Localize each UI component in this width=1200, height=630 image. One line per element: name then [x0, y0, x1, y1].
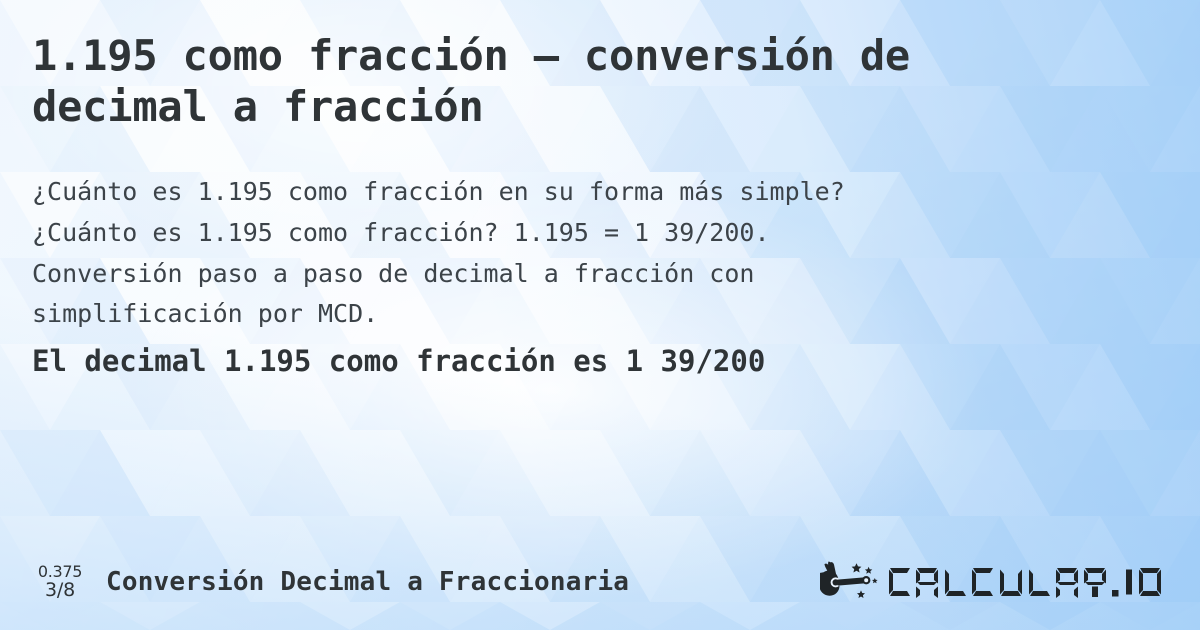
answer-statement: El decimal 1.195 como fracción es 1 39/2… [32, 343, 1112, 381]
summary-text: ¿Cuánto es 1.195 como fracción en su for… [32, 172, 1072, 335]
calculatio-wordmark: CALCULAT.IO [886, 561, 1182, 603]
summary-line: ¿Cuánto es 1.195 como fracción en su for… [32, 172, 1072, 213]
footer-brand-group: 0.375 3/8 Conversión Decimal a Fracciona… [32, 563, 629, 601]
card-footer: 0.375 3/8 Conversión Decimal a Fracciona… [32, 556, 1182, 608]
icon-decimal-value: 0.375 [38, 563, 82, 581]
card-content: 1.195 como fracción – conversión de deci… [32, 0, 1168, 630]
hand-magic-wand-icon [820, 559, 882, 605]
calculator-name: Conversión Decimal a Fraccionaria [106, 567, 629, 597]
page-title: 1.195 como fracción – conversión de deci… [32, 30, 1092, 132]
icon-fraction-value: 3/8 [45, 580, 75, 601]
summary-line: simplificación por MCD. [32, 294, 1072, 335]
summary-line: Conversión paso a paso de decimal a frac… [32, 254, 1072, 295]
open-graph-card: 1.195 como fracción – conversión de deci… [0, 0, 1200, 630]
brand-logo[interactable]: CALCULAT.IO [820, 559, 1182, 605]
decimal-to-fraction-icon: 0.375 3/8 [32, 563, 88, 601]
summary-line: ¿Cuánto es 1.195 como fracción? 1.195 = … [32, 213, 1072, 254]
